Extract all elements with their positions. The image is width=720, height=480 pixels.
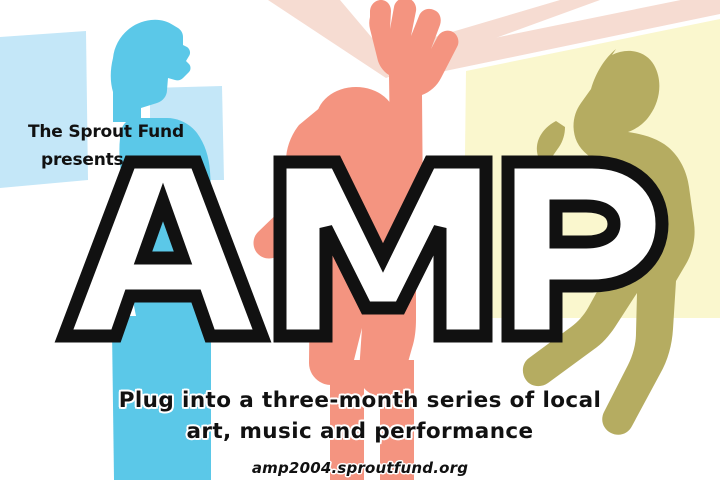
poster-canvas: The Sprout Fund presents Plug into a thr…	[0, 0, 720, 480]
wordmark-letter-a	[64, 162, 262, 336]
amp-wordmark-svg	[0, 150, 720, 350]
presenter-line-1: The Sprout Fund	[28, 122, 184, 142]
wordmark-letter-m	[280, 162, 486, 336]
amp-wordmark	[0, 150, 720, 350]
tagline-line-1: Plug into a three-month series of local	[0, 388, 720, 413]
wordmark-letter-p	[508, 162, 662, 336]
tagline-line-2: art, music and performance	[0, 419, 720, 444]
website-url: amp2004.sproutfund.org	[0, 459, 720, 477]
presenter-line-2: presents	[41, 150, 123, 170]
